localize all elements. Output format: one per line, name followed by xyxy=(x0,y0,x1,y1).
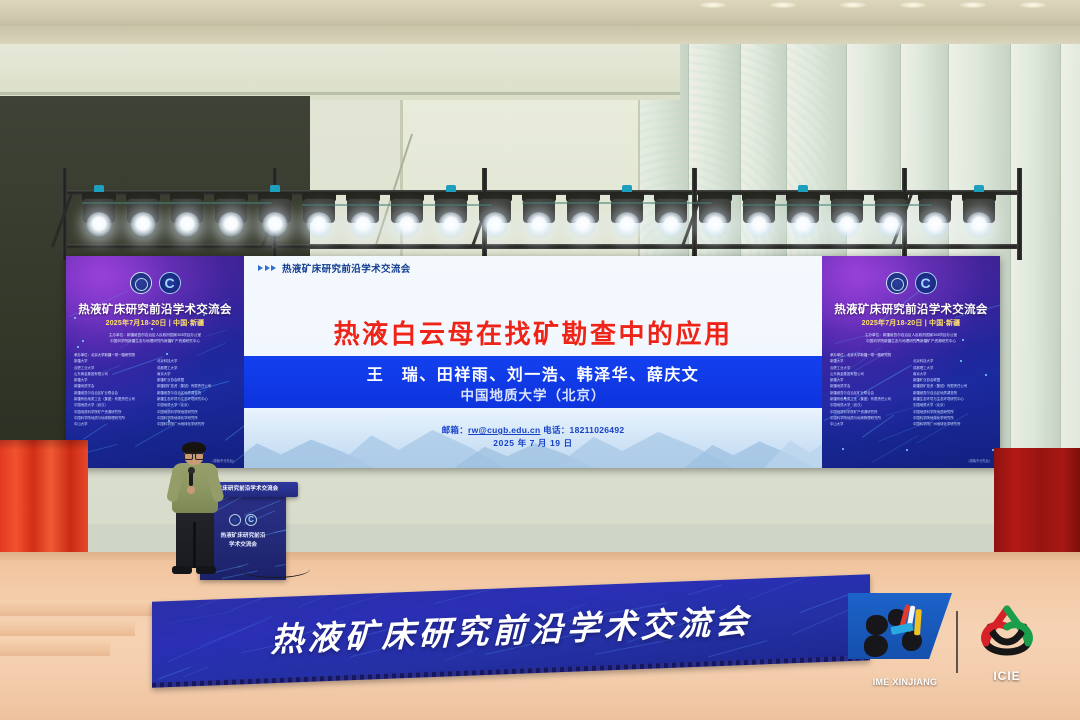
slide-affiliation: 中国地质大学（北京） xyxy=(244,384,822,404)
panel-title-right: 热液矿床研究前沿学术交流会 xyxy=(826,301,996,317)
led-video-wall: C 热液矿床研究前沿学术交流会 2025年7月18-20日 | 中国·新疆 主办… xyxy=(66,256,1000,468)
light-beam xyxy=(878,212,904,238)
stage-light-icon xyxy=(564,192,602,238)
slide-date: 2025 年 7 月 19 日 xyxy=(244,437,822,449)
c-logo-icon: C xyxy=(245,514,257,526)
truss-cable xyxy=(522,202,712,204)
conference-stage-scene: C 热液矿床研究前沿学术交流会 2025年7月18-20日 | 中国·新疆 主办… xyxy=(0,0,1080,720)
light-beam xyxy=(526,212,552,238)
light-dot xyxy=(77,346,79,348)
banner-light-streak xyxy=(434,588,495,604)
triangle-bullets-icon xyxy=(258,265,276,271)
led-side-panel-left: C 热液矿床研究前沿学术交流会 2025年7月18-20日 | 中国·新疆 主办… xyxy=(66,256,244,468)
microphone-cable xyxy=(240,560,310,578)
speaker-shoe-left xyxy=(172,566,192,574)
email-value: rw@cugb.edu.cn xyxy=(468,425,540,435)
slide-contact-line: 邮箱：rw@cugb.edu.cn 电话：18211026492 xyxy=(244,424,822,436)
ceiling-downlight-icon xyxy=(960,2,986,8)
stage-light-icon xyxy=(520,192,558,238)
slide-header: 热液矿床研究前沿学术交流会 xyxy=(258,261,411,275)
soffit-shadow-line xyxy=(0,92,680,95)
ceiling-downlight-icon xyxy=(840,2,866,8)
stage-light-icon xyxy=(212,192,250,238)
stage-light-icon xyxy=(828,192,866,238)
stage-light-icon xyxy=(784,192,822,238)
org-item: 中国科学院广州地球化学研究所 xyxy=(157,421,236,427)
ceiling-downlight-icon xyxy=(1020,2,1046,8)
stage-light-icon xyxy=(608,192,646,238)
panel-title-left: 热液矿床研究前沿学术交流会 xyxy=(70,301,240,317)
light-beam xyxy=(86,212,112,238)
icie-logo: ICIE xyxy=(966,599,1048,685)
light-beam xyxy=(658,212,684,238)
stage-curtain-left xyxy=(0,440,88,568)
light-beam xyxy=(218,212,244,238)
phone-label: 电话： xyxy=(543,425,569,435)
stage-light-icon xyxy=(168,192,206,238)
stage-light-icon xyxy=(300,192,338,238)
light-beam xyxy=(702,212,728,238)
hosts-line-2: 中国科学院新疆生态与地理研究所新疆矿产资源研究中心 xyxy=(74,338,236,344)
stage-light-icon xyxy=(432,192,470,238)
light-dot xyxy=(906,449,908,451)
sponsor-logos: IME XINJIANG ICIE xyxy=(862,596,1074,688)
orgs-column-2-right: 北京科技大学成都理工大学南京大学新疆矿业协会联盟新疆铁矿投资（集团）有限责任公司… xyxy=(913,352,992,428)
light-beam xyxy=(834,212,860,238)
org-item: 中山大学 xyxy=(74,421,153,427)
stage-light-icon xyxy=(872,192,910,238)
org-item: 中国科学院广州地球化学研究所 xyxy=(913,421,992,427)
light-beam xyxy=(350,212,376,238)
stage-step-2 xyxy=(0,620,135,636)
stage-light-icon xyxy=(388,192,426,238)
ime-xinjiang-logo: IME XINJIANG xyxy=(862,599,948,685)
c-logo-icon: C xyxy=(159,272,181,294)
c-logo-icon: C xyxy=(915,272,937,294)
light-beam xyxy=(306,212,332,238)
light-beam xyxy=(438,212,464,238)
ceiling-downlight-icon xyxy=(770,2,796,8)
light-dot xyxy=(842,448,844,450)
slide-authors: 王 瑞、田祥雨、刘一浩、韩泽华、薛庆文 xyxy=(244,361,822,385)
speaker-person xyxy=(166,444,224,578)
stage-light-icon xyxy=(652,192,690,238)
truss-cable xyxy=(742,204,932,206)
light-beam xyxy=(262,212,288,238)
led-side-panel-right: C 热液矿床研究前沿学术交流会 2025年7月18-20日 | 中国·新疆 主办… xyxy=(822,256,1000,468)
orgs-column-2-left: 北京科技大学成都理工大学南京大学新疆矿业协会联盟新疆铁矿投资（集团）有限责任公司… xyxy=(157,352,236,428)
microphone-icon xyxy=(189,470,193,486)
panel-hosts-left: 主办单位：新疆维吾尔自治区人民政府国家305项目办公室 中国科学院新疆生态与地理… xyxy=(74,332,236,345)
stage-step-1 xyxy=(0,600,160,616)
light-beam xyxy=(614,212,640,238)
panel-footer-right: （排版不分先后） xyxy=(967,458,993,463)
trefoil-knot-icon xyxy=(976,603,1038,661)
orgs-column-1-left: 承办单位：北京大学新疆一带一路研究院新疆大学合肥工业大学山东黄金集团有限公司新疆… xyxy=(74,352,153,428)
stage-light-icon xyxy=(80,192,118,238)
stage-light-icon xyxy=(960,192,998,238)
light-dot xyxy=(151,328,153,330)
banner-light-streak xyxy=(687,584,722,595)
ceiling-downlight-icon xyxy=(700,2,726,8)
stage-light-icon xyxy=(696,192,734,238)
panel-orgs-left: 承办单位：北京大学新疆一带一路研究院新疆大学合肥工业大学山东黄金集团有限公司新疆… xyxy=(74,352,236,428)
lighting-truss xyxy=(62,168,1022,260)
stage-light-icon xyxy=(916,192,954,238)
university-seal-icon xyxy=(130,272,152,294)
hosts-line-2: 中国科学院新疆生态与地理研究所新疆矿产资源研究中心 xyxy=(830,338,992,344)
light-beam xyxy=(482,212,508,238)
panel-orgs-right: 承办单位：北京大学新疆一带一路研究院新疆大学合肥工业大学山东黄金集团有限公司新疆… xyxy=(830,352,992,428)
speaker-hand xyxy=(187,486,195,494)
speaker-legs xyxy=(176,510,214,568)
light-beam xyxy=(922,212,948,238)
truss-cable xyxy=(82,202,272,204)
panel-emblems-left: C xyxy=(66,272,244,294)
glasses-icon xyxy=(184,452,204,457)
stage-light-icon xyxy=(256,192,294,238)
phone-value: 18211026492 xyxy=(570,425,625,435)
speaker-shoe-right xyxy=(196,566,216,574)
light-beam xyxy=(174,212,200,238)
ime-logo-label: IME XINJIANG xyxy=(862,677,948,687)
slide-title: 热液白云母在找矿勘查中的应用 xyxy=(244,314,822,351)
light-beam xyxy=(746,212,772,238)
panel-date-left: 2025年7月18-20日 | 中国·新疆 xyxy=(70,318,240,328)
presentation-slide: 热液矿床研究前沿学术交流会 热液白云母在找矿勘查中的应用 王 瑞、田祥雨、刘一浩… xyxy=(244,256,822,468)
orgs-column-1-right: 承办单位：北京大学新疆一带一路研究院新疆大学合肥工业大学山东黄金集团有限公司新疆… xyxy=(830,352,909,428)
university-seal-icon xyxy=(229,514,241,526)
ceiling-downlights xyxy=(0,0,1080,14)
stage-light-icon xyxy=(124,192,162,238)
wall-panel xyxy=(1060,44,1080,464)
email-label: 邮箱： xyxy=(442,425,468,435)
truss-post xyxy=(1017,168,1022,260)
university-seal-icon xyxy=(886,272,908,294)
stage-light-icon xyxy=(476,192,514,238)
truss-bar xyxy=(62,244,1022,249)
stage-light-icon xyxy=(740,192,778,238)
light-beam xyxy=(966,212,992,238)
logo-divider xyxy=(956,611,958,673)
panel-hosts-right: 主办单位：新疆维吾尔自治区人民政府国家305项目办公室 中国科学院新疆生态与地理… xyxy=(830,332,992,345)
slide-header-text: 热液矿床研究前沿学术交流会 xyxy=(282,261,411,275)
light-beam xyxy=(570,212,596,238)
org-item: 中山大学 xyxy=(830,421,909,427)
light-beam xyxy=(790,212,816,238)
ceiling-downlight-icon xyxy=(900,2,926,8)
icie-logo-label: ICIE xyxy=(966,669,1048,683)
stage-step-3 xyxy=(0,640,110,656)
stage-light-icon xyxy=(344,192,382,238)
panel-date-right: 2025年7月18-20日 | 中国·新疆 xyxy=(826,318,996,328)
banner-light-streak xyxy=(158,666,191,679)
light-beam xyxy=(394,212,420,238)
light-beam xyxy=(130,212,156,238)
truss-cable xyxy=(302,204,492,206)
panel-emblems-right: C xyxy=(822,272,1000,294)
